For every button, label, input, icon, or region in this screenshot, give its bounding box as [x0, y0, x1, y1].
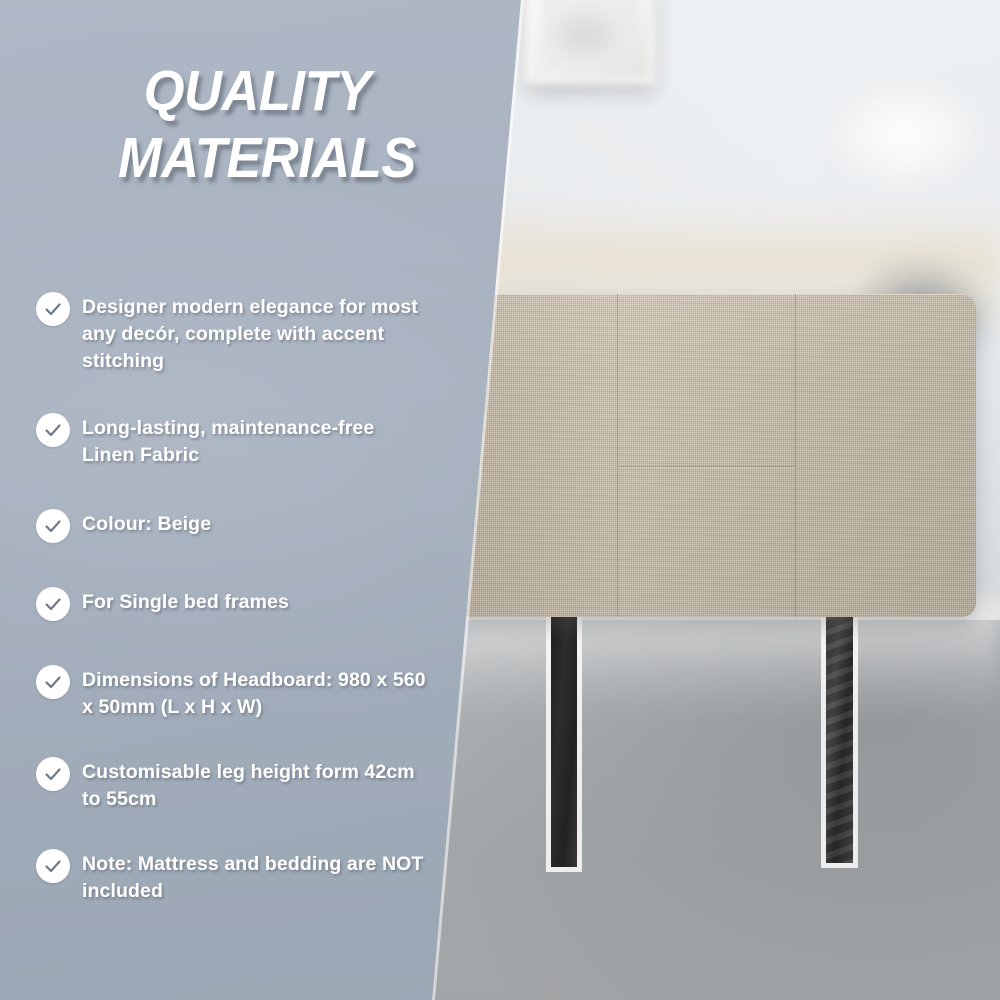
stitch-line-vertical-left: [617, 294, 618, 617]
list-item-label: Dimensions of Headboard: 980 x 560 x 50m…: [82, 665, 426, 721]
list-item: Note: Mattress and bedding are NOT inclu…: [36, 849, 426, 905]
window-light-glow: [790, 60, 1000, 210]
list-item: Long-lasting, maintenance-free Linen Fab…: [36, 413, 426, 469]
mattress-edge-blur: [430, 600, 1000, 720]
page-title-line-2: MATERIALS: [118, 125, 422, 192]
check-circle-icon: [36, 509, 70, 543]
list-item: Customisable leg height form 42cm to 55c…: [36, 757, 426, 813]
check-circle-icon: [36, 292, 70, 326]
check-circle-icon: [36, 587, 70, 621]
list-item-label: Note: Mattress and bedding are NOT inclu…: [82, 849, 426, 905]
stitch-line-horizontal-center: [617, 466, 795, 467]
check-circle-icon: [36, 757, 70, 791]
headboard-leg-left: [551, 615, 577, 867]
check-circle-icon: [36, 849, 70, 883]
list-item-label: Customisable leg height form 42cm to 55c…: [82, 757, 426, 813]
product-infographic: QUALITY MATERIALS Designer modern elegan…: [0, 0, 1000, 1000]
wall-picture-frame: [525, 0, 655, 84]
list-item-label: Long-lasting, maintenance-free Linen Fab…: [82, 413, 426, 469]
list-item-label: Designer modern elegance for most any de…: [82, 292, 426, 375]
page-title: QUALITY MATERIALS: [118, 58, 422, 192]
check-circle-icon: [36, 665, 70, 699]
picture-frame-art: [542, 0, 638, 67]
check-circle-icon: [36, 413, 70, 447]
page-title-line-1: QUALITY: [144, 58, 422, 125]
list-item: For Single bed frames: [36, 587, 426, 623]
list-item: Colour: Beige: [36, 509, 426, 545]
stitch-line-vertical-right: [795, 294, 796, 617]
feature-list: Designer modern elegance for most any de…: [36, 292, 426, 905]
list-item: Dimensions of Headboard: 980 x 560 x 50m…: [36, 665, 426, 721]
list-item: Designer modern elegance for most any de…: [36, 292, 426, 375]
list-item-label: Colour: Beige: [82, 509, 211, 538]
headboard-panel: [424, 294, 976, 617]
list-item-label: For Single bed frames: [82, 587, 289, 616]
headboard-leg-right: [826, 615, 853, 863]
